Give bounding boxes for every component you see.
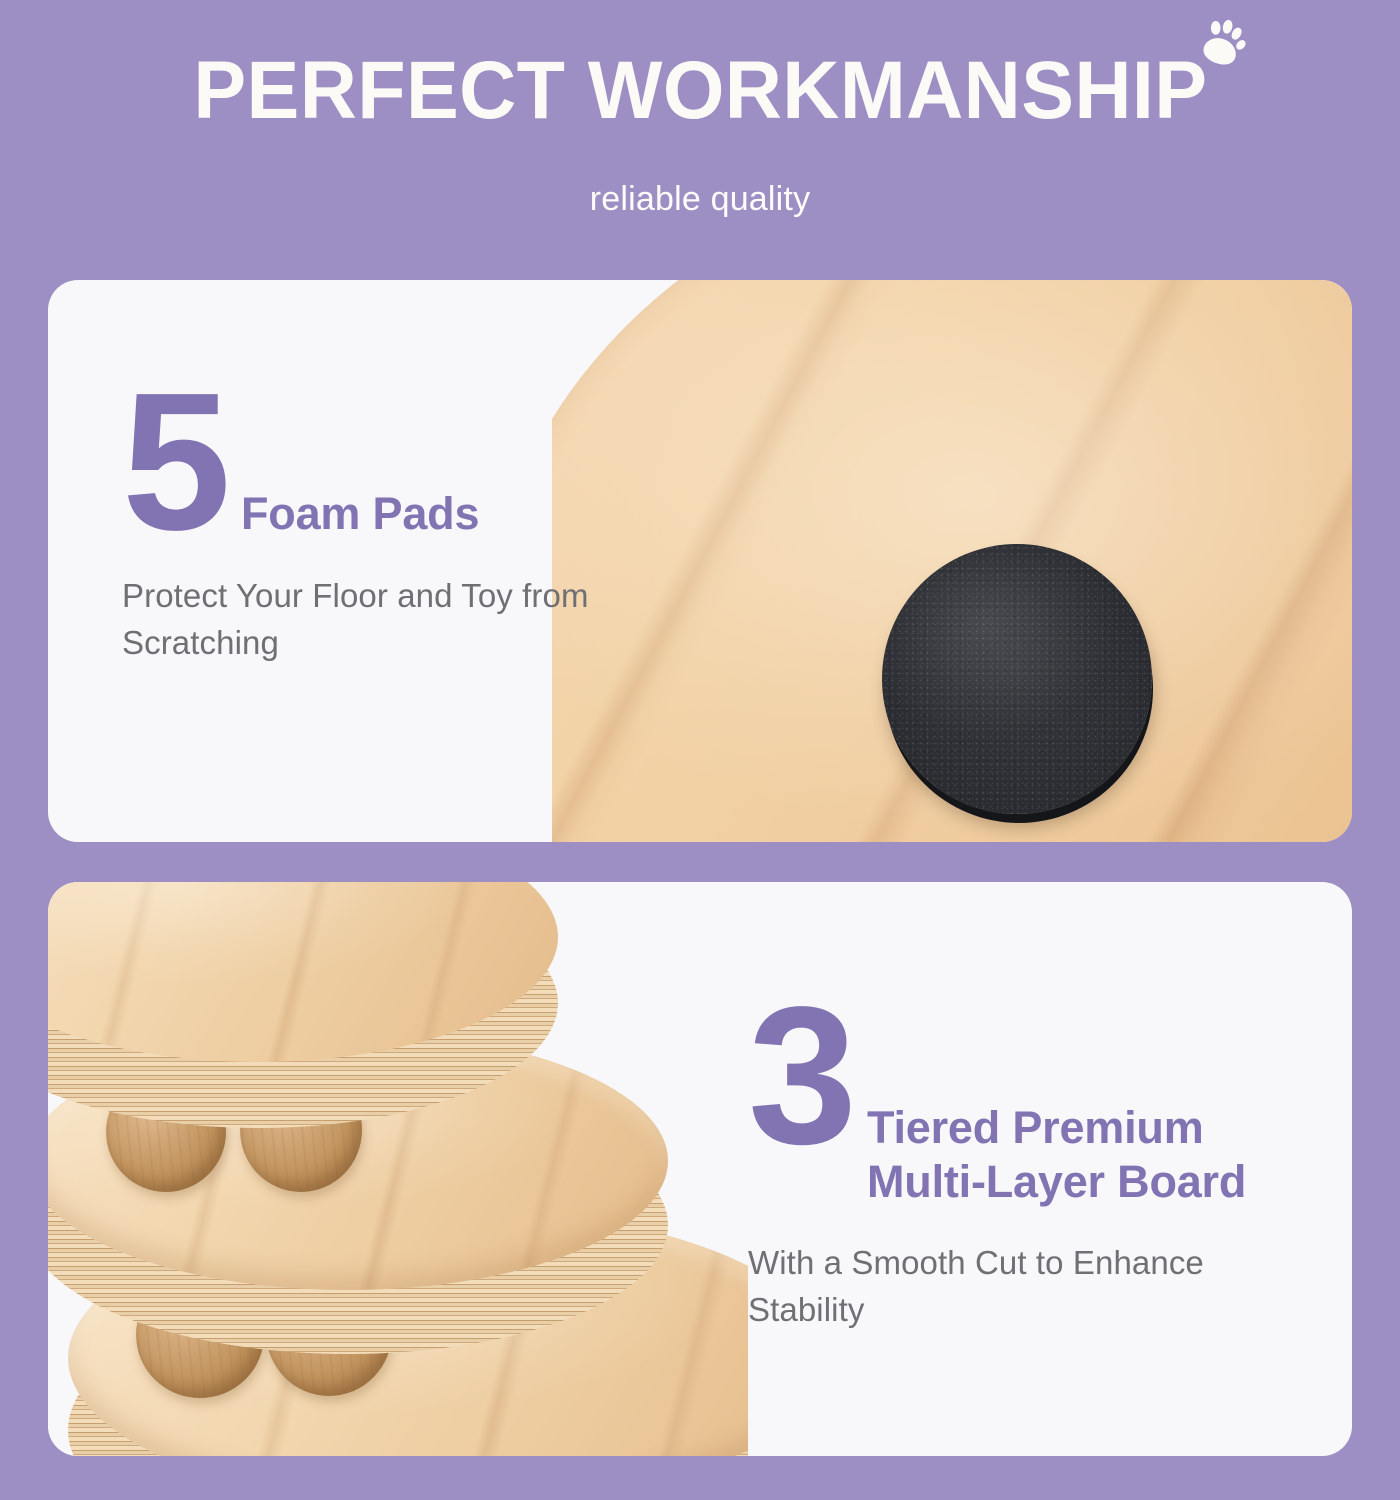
page-title: PERFECT WORKMANSHIP xyxy=(193,46,1207,136)
three-tier-plywood-cat-toy-tower-photo xyxy=(48,882,748,1456)
page-title-text: PERFECT WORKMANSHIP xyxy=(193,45,1207,136)
page-subtitle: reliable quality xyxy=(0,178,1400,220)
feature-text-foam-pads: 5 Foam Pads Protect Your Floor and Toy f… xyxy=(122,376,642,666)
feature-label: Tiered Premium Multi-Layer Board xyxy=(867,1101,1328,1213)
infographic-page: PERFECT WORKMANSHIP reliable quality xyxy=(0,0,1400,1500)
title-row: PERFECT WORKMANSHIP xyxy=(0,46,1400,136)
round-pine-board-with-foam-pad-photo xyxy=(552,280,1352,842)
feature-headline: 3 Tiered Premium Multi-Layer Board xyxy=(748,990,1328,1213)
feature-card-foam-pads: 5 Foam Pads Protect Your Floor and Toy f… xyxy=(48,280,1352,842)
header-banner: PERFECT WORKMANSHIP reliable quality xyxy=(0,0,1400,262)
feature-text-tiered-board: 3 Tiered Premium Multi-Layer Board With … xyxy=(748,990,1328,1333)
foam-pad-texture xyxy=(882,544,1152,814)
feature-description: With a Smooth Cut to Enhance Stability xyxy=(748,1239,1328,1333)
feature-description: Protect Your Floor and Toy from Scratchi… xyxy=(122,572,642,666)
feature-card-tiered-board: 3 Tiered Premium Multi-Layer Board With … xyxy=(48,882,1352,1456)
feature-number: 5 xyxy=(122,376,227,548)
feature-label: Foam Pads xyxy=(241,487,479,545)
foam-pad-circle xyxy=(882,544,1152,814)
feature-number: 3 xyxy=(748,990,853,1162)
feature-headline: 5 Foam Pads xyxy=(122,376,642,548)
